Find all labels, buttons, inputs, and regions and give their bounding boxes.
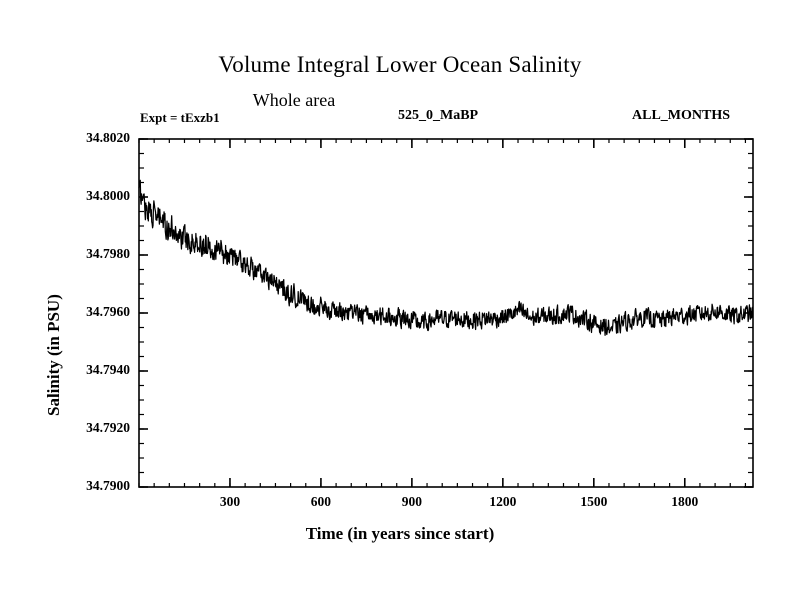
x-tick-label: 300 [190, 494, 270, 510]
months-label: ALL_MONTHS [632, 108, 730, 124]
x-axis-title: Time (in years since start) [0, 524, 800, 544]
x-major-tick-group [230, 139, 685, 487]
y-tick-label: 34.8020 [52, 130, 130, 146]
chart-title: Volume Integral Lower Ocean Salinity [0, 52, 800, 78]
y-tick-label: 34.7920 [52, 420, 130, 436]
experiment-label: Expt = tExzb1 [140, 110, 220, 126]
period-label: 525_0_MaBP [398, 108, 478, 124]
y-tick-label: 34.7900 [52, 478, 130, 494]
x-tick-label: 1500 [554, 494, 634, 510]
data-series-group [139, 180, 753, 335]
x-tick-label: 600 [281, 494, 361, 510]
x-tick-label: 1200 [463, 494, 543, 510]
y-tick-label: 34.7960 [52, 304, 130, 320]
y-tick-label: 34.7980 [52, 246, 130, 262]
x-tick-label: 900 [372, 494, 452, 510]
salinity-timeseries-figure: Volume Integral Lower Ocean Salinity Who… [0, 0, 800, 600]
y-tick-label: 34.7940 [52, 362, 130, 378]
y-tick-label: 34.8000 [52, 188, 130, 204]
x-tick-label: 1800 [645, 494, 725, 510]
